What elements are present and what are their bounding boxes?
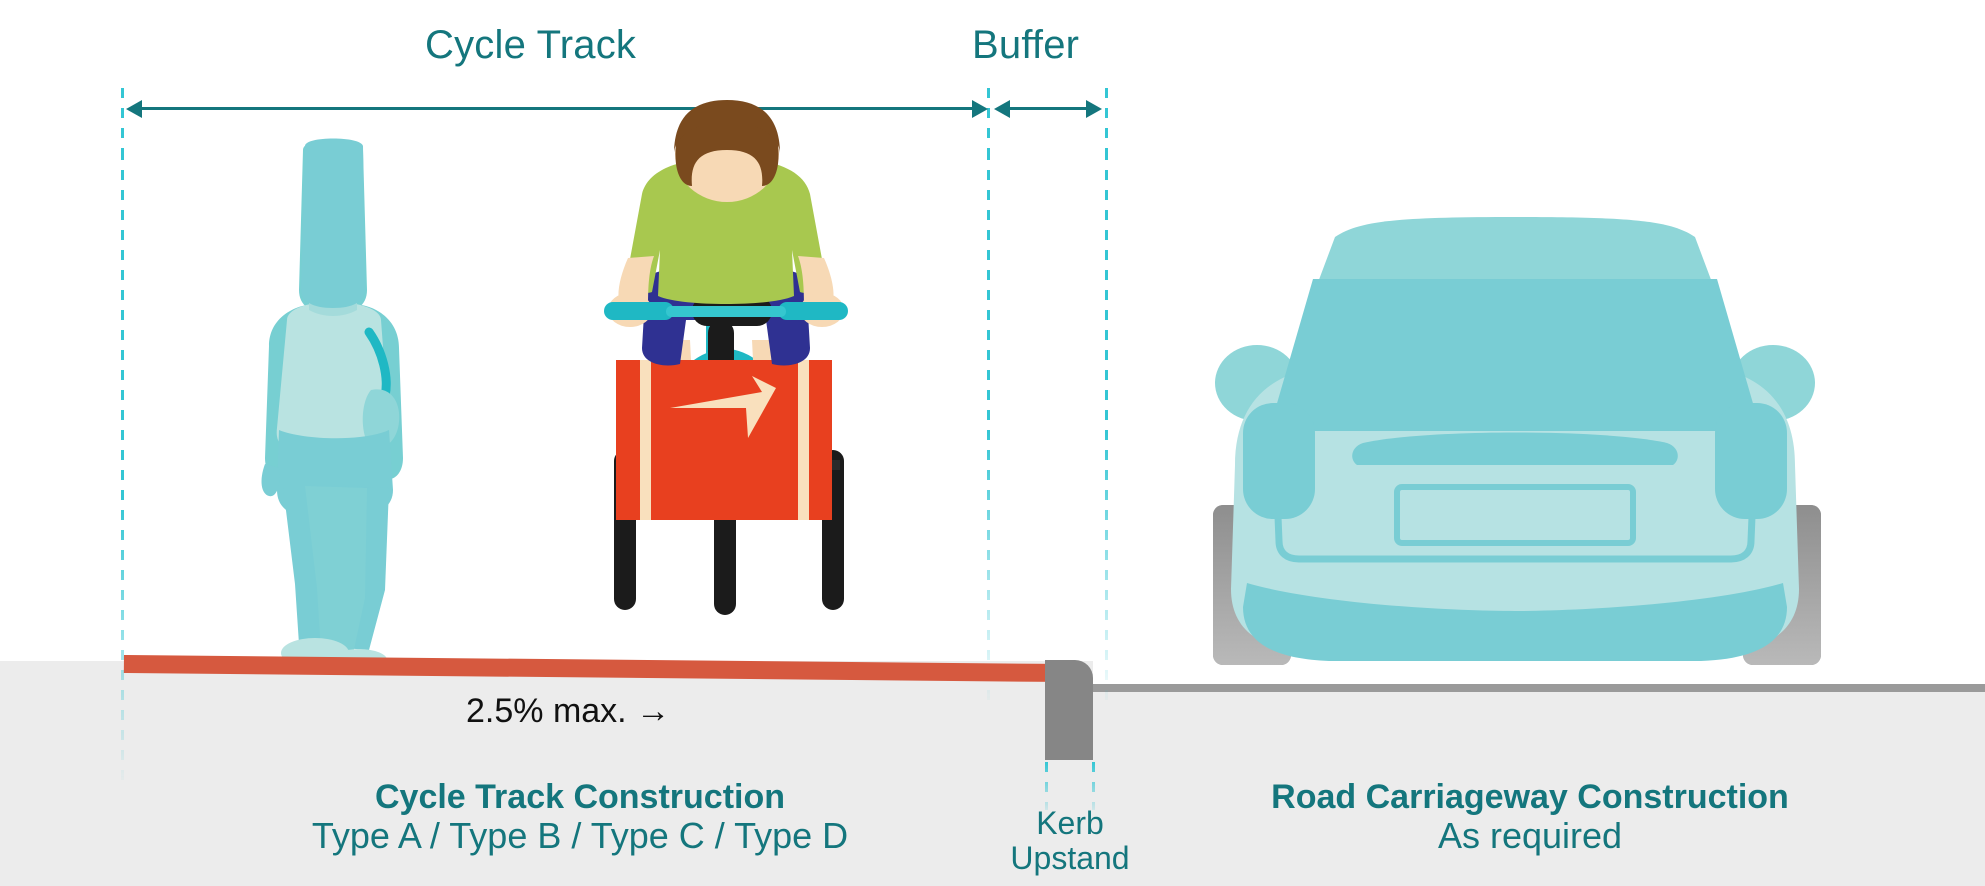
- extension-line-left: [121, 88, 124, 150]
- extension-line-track-buffer: [987, 88, 990, 150]
- buffer-dim-arrow-right: [1086, 100, 1102, 118]
- cycle-track-cross-section-diagram: Cycle Track Buffer: [0, 0, 1985, 886]
- extension-line-buffer-right: [1105, 88, 1108, 150]
- road-carriageway-construction-heading: Road Carriageway Construction: [1140, 778, 1920, 816]
- cycle-track-dimension-label: Cycle Track: [425, 23, 636, 68]
- cycle-track-dim-rule: [140, 107, 974, 110]
- cargo-bike-rider: [586, 120, 876, 680]
- kerb-caption-line-2: Upstand: [1010, 840, 1129, 876]
- cycle-track-construction-caption: Cycle Track Construction Type A / Type B…: [180, 778, 980, 856]
- road-carriageway-construction-requirement: As required: [1140, 816, 1920, 856]
- road-carriageway-construction-caption: Road Carriageway Construction As require…: [1140, 778, 1920, 856]
- pedestrian-figure: [243, 138, 423, 668]
- buffer-dimension-label: Buffer: [972, 23, 1079, 68]
- kerb-leader-line-left: [1045, 762, 1048, 810]
- kerb-upstand-block: [1045, 660, 1093, 760]
- extension-line-left-lower: [121, 150, 124, 790]
- kerb-caption-line-1: Kerb: [1036, 805, 1104, 841]
- buffer-dim-rule: [1008, 107, 1088, 110]
- car-rear-view: [1195, 215, 1835, 695]
- cycle-track-dim-arrow-right: [972, 100, 988, 118]
- cycle-track-construction-heading: Cycle Track Construction: [180, 778, 980, 816]
- cycle-track-construction-types: Type A / Type B / Type C / Type D: [180, 816, 980, 856]
- extension-line-buffer-right-lower: [1105, 150, 1108, 710]
- kerb-leader-line-right: [1092, 762, 1095, 810]
- extension-line-track-buffer-lower: [987, 150, 990, 710]
- crossfall-slope-note: 2.5% max. →: [466, 692, 670, 731]
